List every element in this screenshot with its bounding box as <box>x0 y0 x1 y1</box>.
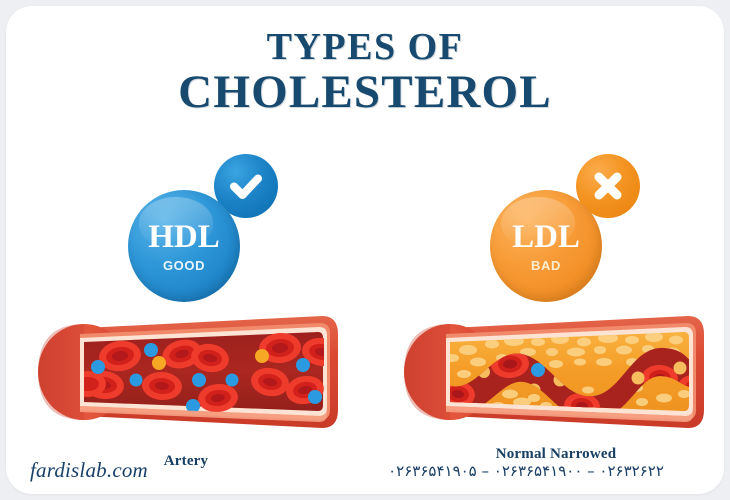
site-watermark: fardislab.com <box>30 458 148 483</box>
title-line-2: CHOLESTEROL <box>6 66 724 119</box>
hdl-sublabel: GOOD <box>163 259 205 272</box>
healthy-artery-illustration <box>22 302 352 442</box>
page-title: TYPES OF CHOLESTEROL <box>6 28 724 119</box>
infographic-stage: TYPES OF CHOLESTEROL HDL GOOD L <box>0 0 730 500</box>
hdl-badge: HDL GOOD <box>128 154 278 304</box>
ldl-badge-body: LDL BAD <box>490 190 602 302</box>
ldl-label: LDL <box>512 221 580 254</box>
hdl-badge-body: HDL GOOD <box>128 190 240 302</box>
narrowed-artery-illustration <box>388 302 718 442</box>
narrowed-artery-caption: Normal Narrowed <box>436 446 676 463</box>
phone-numbers: ۰۲۶۳۶۵۴۱۹۰۵ – ۰۲۶۳۶۵۴۱۹۰۰ – ۰۲۶۳۲۶۲۲ <box>336 462 716 480</box>
ldl-sublabel: BAD <box>531 259 561 272</box>
infographic-card: TYPES OF CHOLESTEROL HDL GOOD L <box>6 6 724 494</box>
title-line-1: TYPES OF <box>6 28 724 66</box>
ldl-badge: LDL BAD <box>490 154 640 304</box>
hdl-label: HDL <box>148 221 220 254</box>
